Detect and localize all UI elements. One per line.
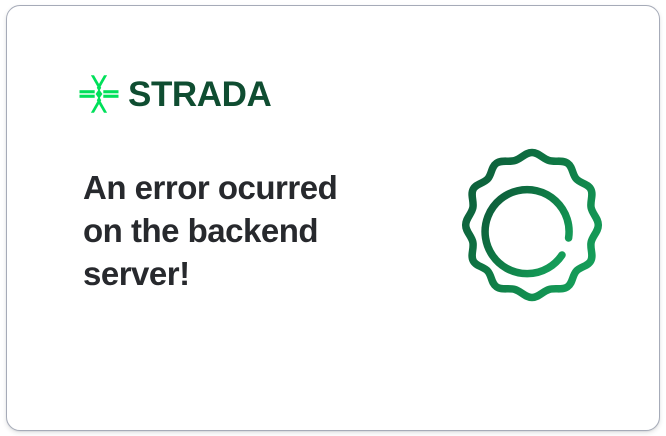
error-card: STRADA An error ocurred on the backend s… [6, 5, 660, 431]
brand-logo: STRADA [79, 72, 271, 116]
strada-asterisk-icon [79, 74, 119, 114]
brand-wordmark: STRADA [128, 77, 271, 112]
gear-cog-icon [450, 144, 614, 308]
error-illustration [450, 144, 614, 308]
error-screen: STRADA An error ocurred on the backend s… [0, 0, 666, 436]
error-headline: An error ocurred on the backend server! [83, 166, 383, 295]
